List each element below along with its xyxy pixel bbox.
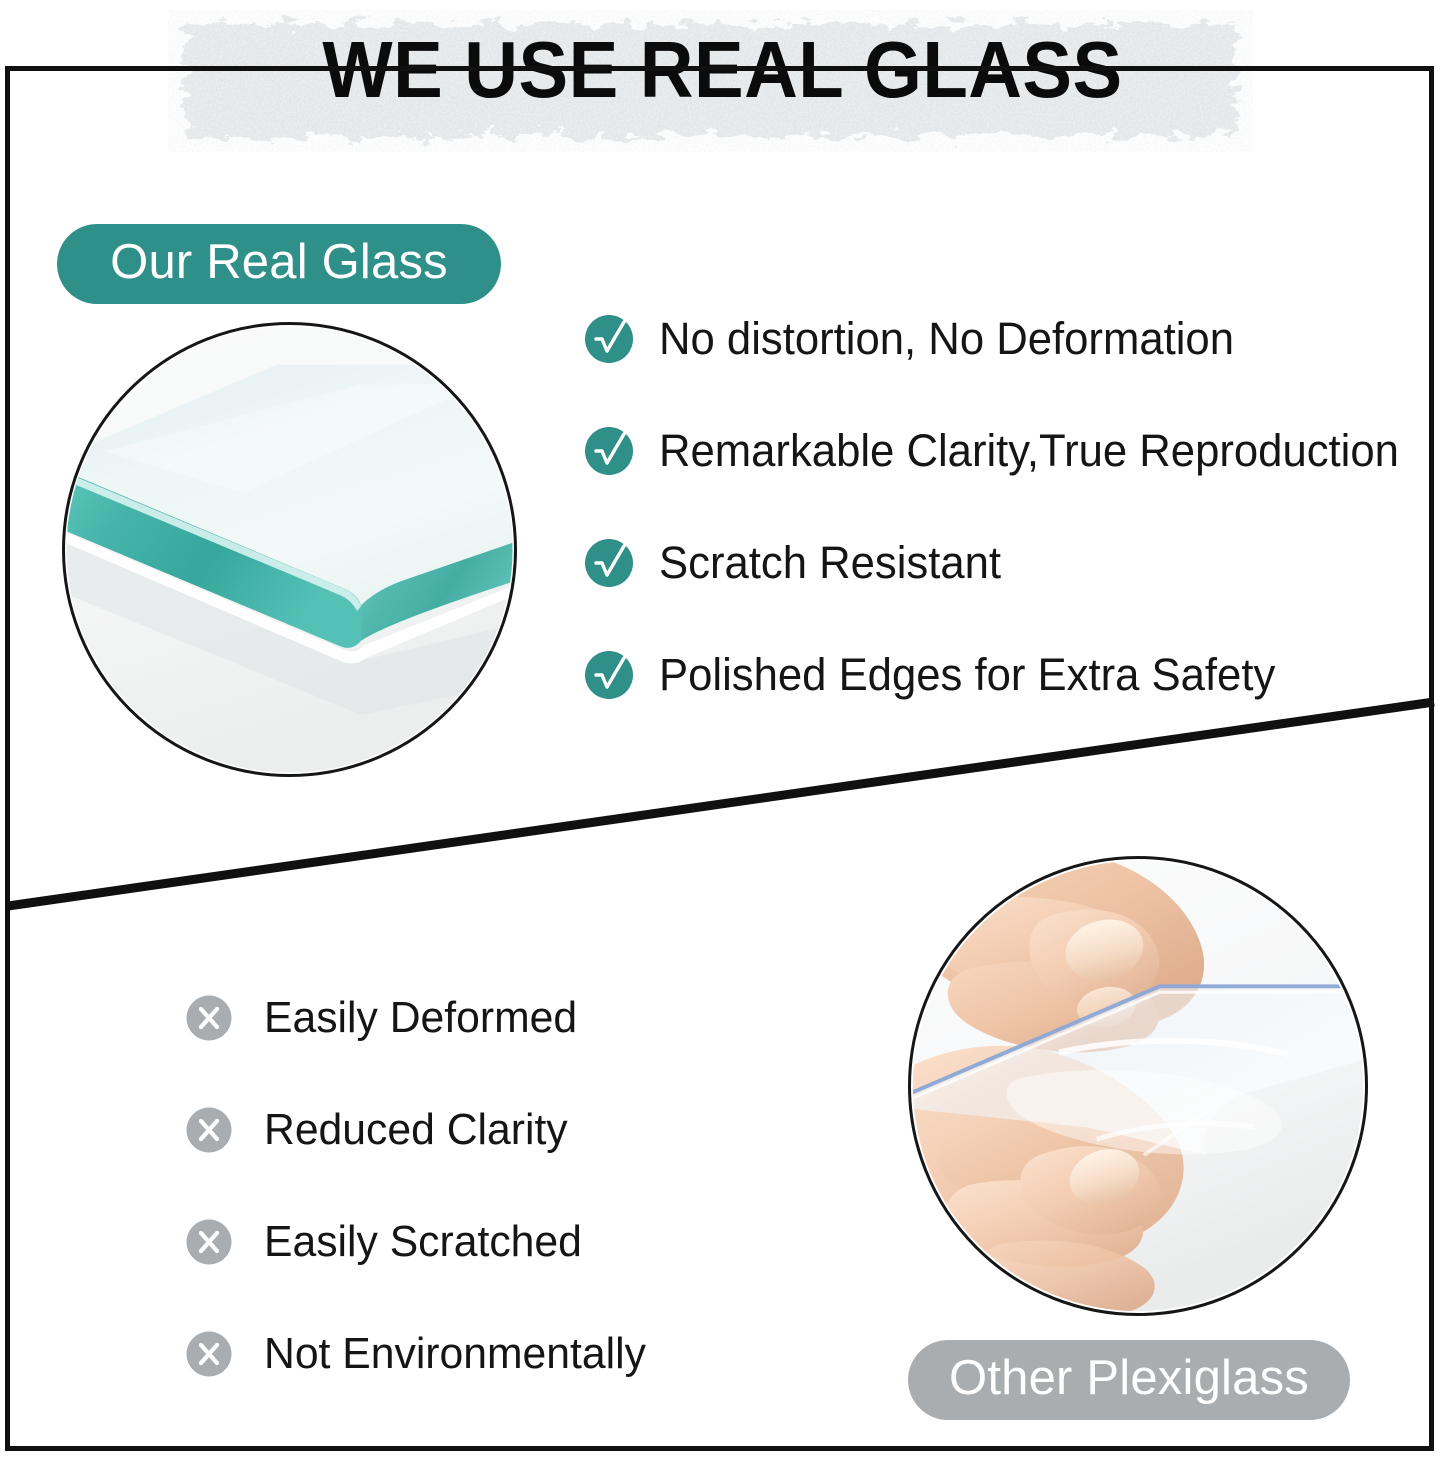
x-circle-icon [186, 995, 232, 1041]
badge-other-plexiglass: Other Plexiglass [908, 1340, 1350, 1420]
list-item: Reduced Clarity [186, 1074, 886, 1186]
x-circle-icon [186, 1219, 232, 1265]
list-item: Easily Deformed [186, 962, 886, 1074]
list-item-label: Scratch Resistant [659, 537, 1001, 589]
list-item-label: Polished Edges for Extra Safety [659, 649, 1275, 701]
list-item: Not Environmentally [186, 1298, 886, 1410]
list-item-label: Easily Scratched [264, 1216, 582, 1268]
infographic-root: WE USE REAL GLASS Our Real Glass [0, 0, 1445, 1470]
list-item-label: Reduced Clarity [264, 1104, 568, 1156]
page-title: WE USE REAL GLASS [51, 24, 1395, 116]
con-feature-list: Easily Deformed Reduced Clarity Easily S… [186, 962, 886, 1410]
check-circle-icon [584, 426, 634, 476]
check-circle-icon [584, 314, 634, 364]
list-item-label: Not Environmentally [264, 1328, 646, 1380]
list-item: Easily Scratched [186, 1186, 886, 1298]
list-item: No distortion, No Deformation [584, 283, 1444, 395]
list-item: Remarkable Clarity,True Reproduction [584, 395, 1444, 507]
list-item-label: Remarkable Clarity,True Reproduction [659, 425, 1399, 477]
list-item: Polished Edges for Extra Safety [584, 619, 1444, 731]
plexiglass-photo [908, 856, 1368, 1316]
list-item-label: Easily Deformed [264, 992, 577, 1044]
list-item: Scratch Resistant [584, 507, 1444, 619]
list-item-label: No distortion, No Deformation [659, 313, 1234, 365]
x-circle-icon [186, 1331, 232, 1377]
pro-feature-list: No distortion, No Deformation Remarkable… [584, 283, 1444, 731]
check-circle-icon [584, 538, 634, 588]
badge-our-real-glass: Our Real Glass [57, 224, 501, 304]
real-glass-photo [62, 322, 517, 777]
x-circle-icon [186, 1107, 232, 1153]
check-circle-icon [584, 650, 634, 700]
